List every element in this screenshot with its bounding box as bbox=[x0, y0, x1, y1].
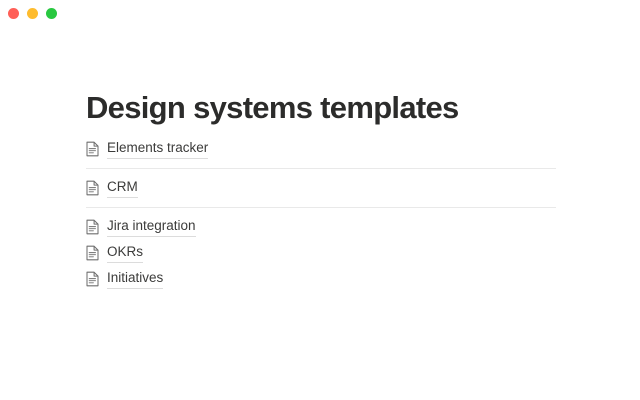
page-canvas: Design systems templates Elements tracke… bbox=[0, 0, 640, 400]
document-list: Elements tracker CRM bbox=[86, 138, 556, 290]
minimize-button[interactable] bbox=[27, 8, 38, 19]
document-icon bbox=[86, 245, 99, 261]
document-icon bbox=[86, 180, 99, 196]
list-item[interactable]: Elements tracker bbox=[86, 138, 556, 160]
list-item-label[interactable]: OKRs bbox=[107, 243, 143, 263]
window-controls bbox=[8, 8, 57, 19]
list-item[interactable]: OKRs bbox=[86, 242, 556, 264]
list-item-label[interactable]: Initiatives bbox=[107, 269, 163, 289]
list-item[interactable]: Initiatives bbox=[86, 268, 556, 290]
window-titlebar bbox=[0, 0, 640, 26]
document-icon bbox=[86, 219, 99, 235]
close-button[interactable] bbox=[8, 8, 19, 19]
list-separator bbox=[86, 207, 556, 208]
document-icon bbox=[86, 271, 99, 287]
list-item-label[interactable]: Jira integration bbox=[107, 217, 196, 237]
maximize-button[interactable] bbox=[46, 8, 57, 19]
list-separator bbox=[86, 168, 556, 169]
list-item[interactable]: CRM bbox=[86, 177, 556, 199]
page-title: Design systems templates bbox=[86, 88, 556, 128]
list-item-label[interactable]: CRM bbox=[107, 178, 138, 198]
document-content: Design systems templates Elements tracke… bbox=[86, 88, 556, 290]
list-item-label[interactable]: Elements tracker bbox=[107, 139, 208, 159]
document-icon bbox=[86, 141, 99, 157]
list-item[interactable]: Jira integration bbox=[86, 216, 556, 238]
